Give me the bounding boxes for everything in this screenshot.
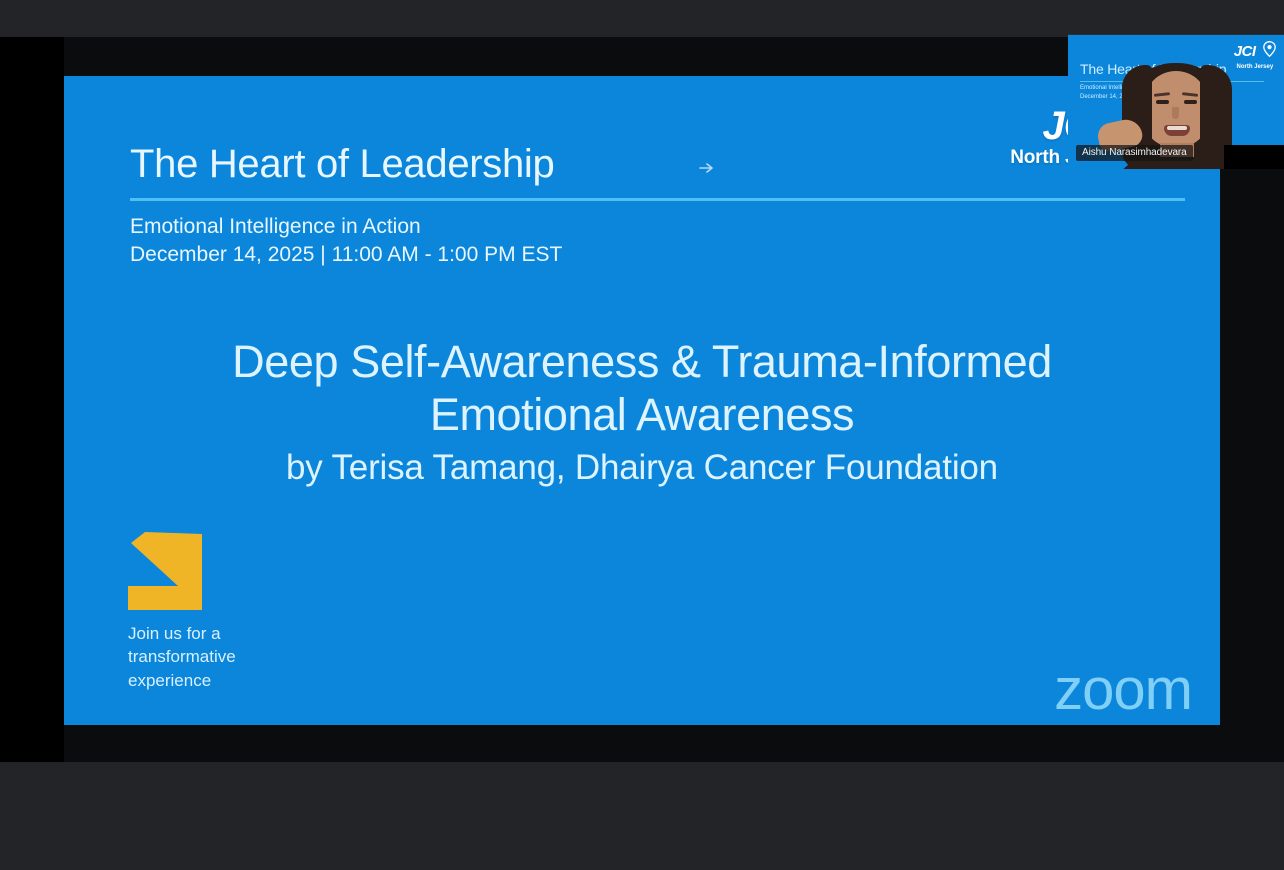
- right-arrow-cursor: [699, 160, 717, 176]
- cta-line-3: experience: [128, 669, 236, 692]
- slide-title-divider: [130, 198, 1185, 201]
- stage-left-letterbox: [0, 37, 64, 762]
- shared-slide[interactable]: The Heart of Leadership Emotional Intell…: [64, 76, 1220, 725]
- window-top-bar: [0, 0, 1284, 37]
- window-bottom-bar: [0, 762, 1284, 870]
- presenter-video-tile[interactable]: The Heart of Leadership Emotional Intell…: [1068, 34, 1284, 169]
- slide-headline-line-1: Deep Self-Awareness & Trauma-Informed: [124, 336, 1160, 389]
- cta-line-2: transformative: [128, 645, 236, 668]
- zoom-meeting-window: The Heart of Leadership Emotional Intell…: [0, 0, 1284, 870]
- slide-byline: by Terisa Tamang, Dhairya Cancer Foundat…: [124, 445, 1160, 491]
- zoom-watermark: zoom: [1054, 661, 1192, 719]
- slide-cta-text: Join us for a transformative experience: [128, 622, 236, 692]
- cta-line-1: Join us for a: [128, 622, 236, 645]
- video-tile-corner-letterbox: [1224, 145, 1284, 169]
- slide-headline-line-2: Emotional Awareness: [124, 389, 1160, 442]
- slide-main-content: Deep Self-Awareness & Trauma-Informed Em…: [64, 336, 1220, 491]
- slide-subtitle-line-1: Emotional Intelligence in Action: [130, 213, 1186, 241]
- participant-name-label: Aishu Narasimhadevara: [1076, 145, 1193, 161]
- slide-subtitle: Emotional Intelligence in Action Decembe…: [130, 213, 1186, 268]
- slide-subtitle-line-2: December 14, 2025 | 11:00 AM - 1:00 PM E…: [130, 241, 1186, 269]
- down-right-arrow-icon: [128, 532, 204, 612]
